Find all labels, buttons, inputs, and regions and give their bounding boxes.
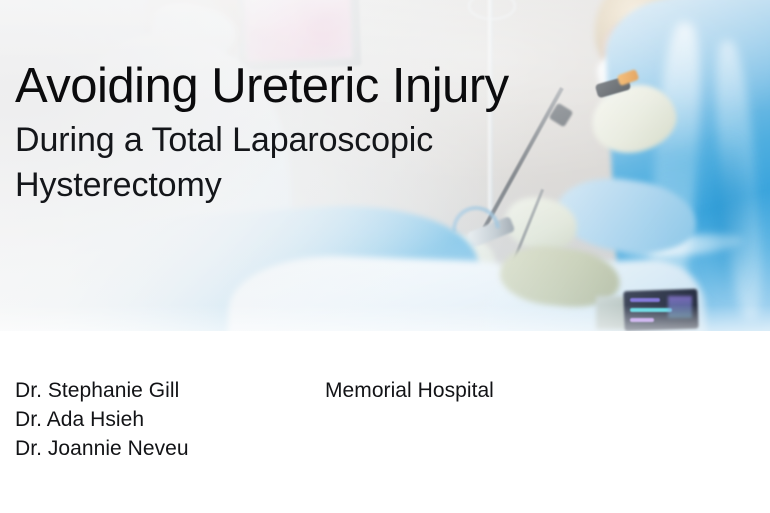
page-subtitle: During a Total Laparoscopic Hysterectomy [15,118,485,207]
title-block: Avoiding Ureteric Injury During a Total … [15,62,615,207]
list-item: Dr. Stephanie Gill [15,376,189,405]
affiliation-label: Memorial Hospital [325,376,494,405]
footer-block: Dr. Stephanie Gill Dr. Ada Hsieh Dr. Joa… [0,331,770,513]
page-title: Avoiding Ureteric Injury [15,62,615,112]
presentation-slide: Avoiding Ureteric Injury During a Total … [0,0,770,513]
image-bottom-fade [0,305,770,331]
author-list: Dr. Stephanie Gill Dr. Ada Hsieh Dr. Joa… [15,376,189,463]
list-item: Dr. Ada Hsieh [15,405,189,434]
list-item: Dr. Joannie Neveu [15,434,189,463]
